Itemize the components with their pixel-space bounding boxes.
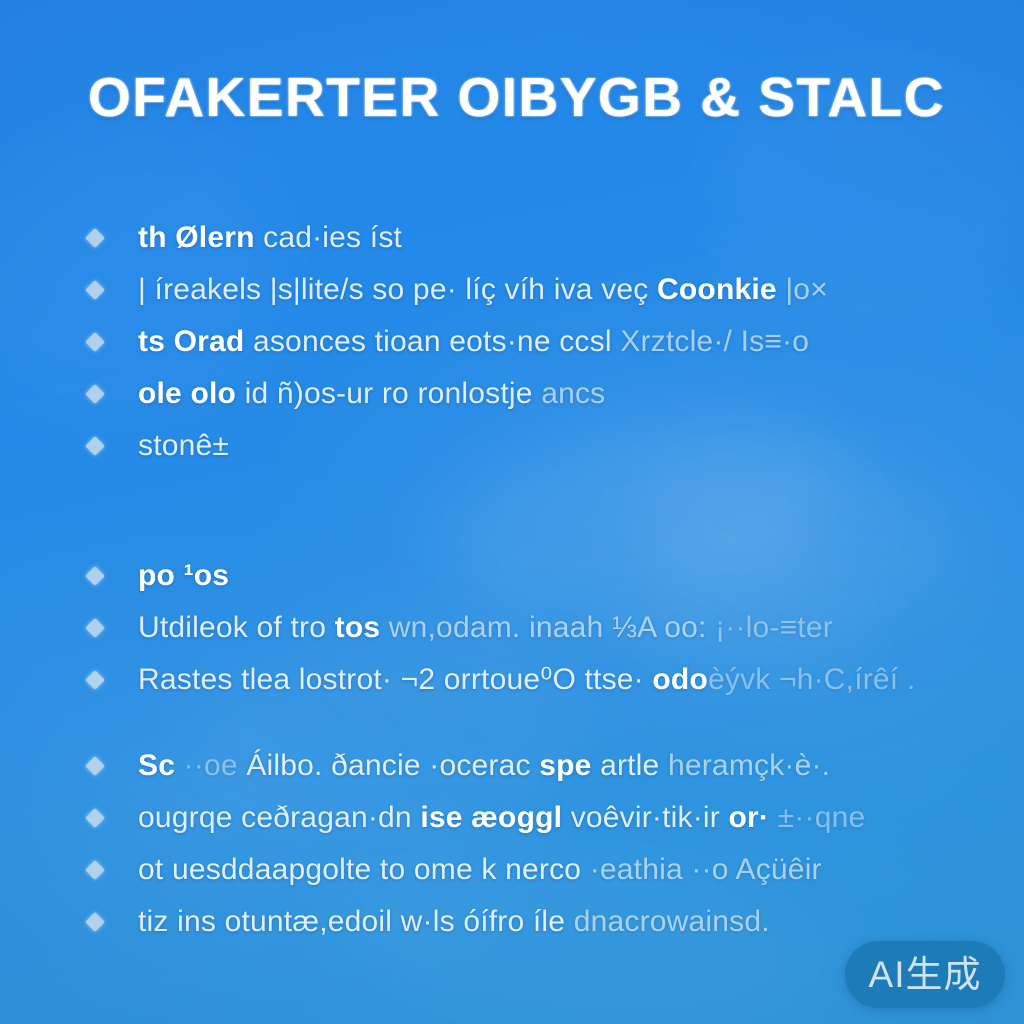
bullet-text-segment: or· bbox=[729, 801, 770, 834]
diamond-bullet-icon bbox=[85, 912, 105, 932]
slide-canvas: OFAKERTER OIBYGB & STALC th Ølern cad·ie… bbox=[0, 0, 1024, 1024]
bullet-text-segment: |o× bbox=[777, 273, 828, 306]
bullet-text-segment: Coonkie bbox=[657, 273, 777, 306]
bullet-group-3: Sc ··oe Áilbo. ðancie ·ocerac spe artle … bbox=[88, 740, 968, 948]
bullet-text-segment: voêvir·tik·ir bbox=[562, 801, 728, 834]
bullet-text-segment: tiz ins otuntæ,edoil w·ls óífro íle bbox=[138, 905, 574, 938]
bullet-row: ole olo id ñ)os-ur ro ronlostje ancs bbox=[88, 368, 968, 420]
diamond-bullet-icon bbox=[85, 384, 105, 404]
bullet-text: stonê± bbox=[138, 429, 968, 463]
bullet-text-segment: cad·ies íst bbox=[255, 221, 402, 254]
bullet-text: Rastes tlea lostrot· ¬2 orrtoue⁰O ttse· … bbox=[138, 663, 968, 697]
bullet-text-segment: | íreakels |s|lite/s so pe· líç víh iva … bbox=[138, 273, 657, 306]
bullet-row: tiz ins otuntæ,edoil w·ls óífro íle dnac… bbox=[88, 896, 968, 948]
bullet-text: ts Orad asonces tioan eots·ne ccsl Xrztc… bbox=[138, 325, 968, 359]
diamond-bullet-icon bbox=[85, 228, 105, 248]
bullet-text-segment: ±··qne bbox=[769, 801, 865, 834]
diamond-bullet-icon bbox=[85, 618, 105, 638]
bullet-text-segment: id ñ)os-ur ro ronlostje bbox=[236, 377, 541, 410]
bullet-text-segment: èývk ¬h·C,írêí . bbox=[708, 663, 915, 696]
diamond-bullet-icon bbox=[85, 808, 105, 828]
diamond-bullet-icon bbox=[85, 332, 105, 352]
bullet-text-segment: Áilbo. ðancie ·ocerac bbox=[246, 749, 539, 782]
bullet-text: ougrqe ceðragan·dn ise æoggl voêvir·tik·… bbox=[138, 801, 968, 835]
diamond-bullet-icon bbox=[85, 860, 105, 880]
bullet-text-segment: ¡··lo-≡ter bbox=[715, 611, 833, 644]
bullet-text-segment: dnacrowainsd. bbox=[574, 905, 770, 938]
bullet-text-segment: artle bbox=[592, 749, 668, 782]
bullet-text-segment: wn,odam. inaah ⅓A oo: bbox=[380, 611, 715, 644]
bullet-row: Utdileok of tro tos wn,odam. inaah ⅓A oo… bbox=[88, 602, 968, 654]
diamond-bullet-icon bbox=[85, 756, 105, 776]
bullet-row: Sc ··oe Áilbo. ðancie ·ocerac spe artle … bbox=[88, 740, 968, 792]
bullet-row: | íreakels |s|lite/s so pe· líç víh iva … bbox=[88, 264, 968, 316]
bullet-text: Sc ··oe Áilbo. ðancie ·ocerac spe artle … bbox=[138, 749, 968, 783]
bullet-text: Utdileok of tro tos wn,odam. inaah ⅓A oo… bbox=[138, 611, 968, 645]
bullet-text-segment: ise æoggl bbox=[420, 801, 562, 834]
slide-title: OFAKERTER OIBYGB & STALC bbox=[88, 64, 968, 130]
bullet-text-segment: Sc bbox=[138, 749, 175, 782]
bullet-text-segment: stonê± bbox=[138, 429, 229, 462]
bullet-text: th Ølern cad·ies íst bbox=[138, 221, 968, 255]
bullet-text-segment: ·eathia ··o Açüêir bbox=[590, 853, 822, 886]
bullet-text-segment: Xrztcle·/ Is≡·o bbox=[620, 325, 809, 358]
bullet-text: po ¹os bbox=[138, 559, 968, 593]
bullet-row: th Ølern cad·ies íst bbox=[88, 212, 968, 264]
bullet-text-segment: ole olo bbox=[138, 377, 236, 410]
bullet-row: po ¹os bbox=[88, 550, 968, 602]
bullet-text-segment: Utdileok of tro bbox=[138, 611, 335, 644]
bullet-text-segment: tos bbox=[335, 611, 381, 644]
ai-generated-watermark-badge: AI生成 bbox=[845, 941, 1005, 1008]
bullet-text: ot uesddaapgolte to ome k nerco ·eathia … bbox=[138, 853, 968, 887]
diamond-bullet-icon bbox=[85, 670, 105, 690]
diamond-bullet-icon bbox=[85, 566, 105, 586]
bullet-group-1: th Ølern cad·ies íst| íreakels |s|lite/s… bbox=[88, 212, 968, 472]
bullet-text-segment: spe bbox=[539, 749, 591, 782]
bullet-text-segment: Rastes tlea lostrot· ¬2 orrtoue⁰O ttse· bbox=[138, 663, 652, 696]
diamond-bullet-icon bbox=[85, 436, 105, 456]
bullet-text-segment: ougrqe ceðragan·dn bbox=[138, 801, 420, 834]
bullet-text-segment: ts Orad bbox=[138, 325, 244, 358]
bullet-text-segment: asonces tioan eots·ne ccsl bbox=[244, 325, 620, 358]
bullet-text: tiz ins otuntæ,edoil w·ls óífro íle dnac… bbox=[138, 905, 968, 939]
bullet-text-segment: ot uesddaapgolte to ome k nerco bbox=[138, 853, 590, 886]
bullet-row: stonê± bbox=[88, 420, 968, 472]
bullet-row: ougrqe ceðragan·dn ise æoggl voêvir·tik·… bbox=[88, 792, 968, 844]
bullet-text-segment: heramçk·è·. bbox=[668, 749, 830, 782]
bullet-text: | íreakels |s|lite/s so pe· líç víh iva … bbox=[138, 273, 968, 307]
bullet-row: ot uesddaapgolte to ome k nerco ·eathia … bbox=[88, 844, 968, 896]
bullet-text-segment: ··oe bbox=[175, 749, 246, 782]
bullet-text-segment: th Ølern bbox=[138, 221, 255, 254]
ai-generated-watermark-label: AI生成 bbox=[869, 956, 982, 993]
bullet-text: ole olo id ñ)os-ur ro ronlostje ancs bbox=[138, 377, 968, 411]
diamond-bullet-icon bbox=[85, 280, 105, 300]
bullet-row: Rastes tlea lostrot· ¬2 orrtoue⁰O ttse· … bbox=[88, 654, 968, 706]
bullet-text-segment: po ¹os bbox=[138, 559, 229, 592]
bullet-group-2: po ¹osUtdileok of tro tos wn,odam. inaah… bbox=[88, 550, 968, 706]
bullet-text-segment: ancs bbox=[541, 377, 605, 410]
bullet-text-segment: odo bbox=[652, 663, 708, 696]
bullet-row: ts Orad asonces tioan eots·ne ccsl Xrztc… bbox=[88, 316, 968, 368]
